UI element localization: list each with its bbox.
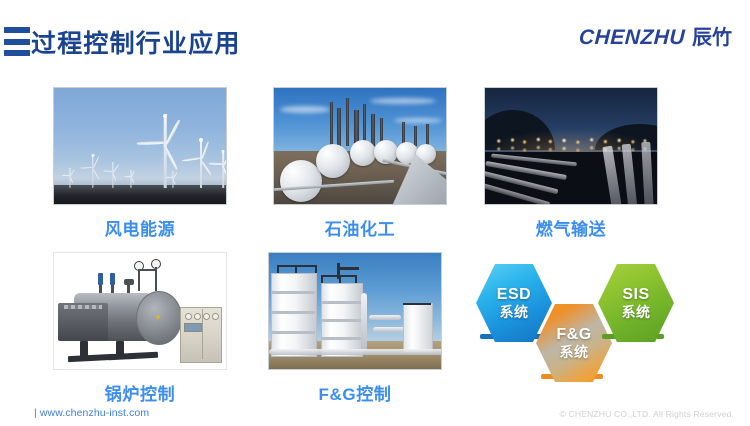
turbine-main: [142, 114, 188, 188]
industrial-boiler-photo: [53, 252, 227, 370]
cabinet-knob: [185, 313, 192, 320]
handrail-post: [355, 275, 357, 283]
night-gas-pipeline-photo: [484, 87, 658, 205]
turbine-hub: [222, 150, 225, 153]
storage-sphere: [350, 140, 376, 166]
caption-wind-power: 风电能源: [53, 215, 227, 240]
card-petrochemical[interactable]: 石油化工: [273, 87, 447, 205]
turbine-blade: [131, 170, 135, 177]
distillation-column: [346, 98, 349, 146]
turbine-blade: [201, 141, 209, 160]
hexagon-fg[interactable]: F&G 系统: [536, 304, 612, 382]
hexagon-esd[interactable]: ESD 系统: [476, 264, 552, 342]
logo-latin-text: CHENZHU: [578, 26, 685, 50]
page-header: 过程控制行业应用 CHENZHU 辰竹: [0, 0, 750, 68]
turbine-distant: [104, 162, 122, 188]
turbine-blade: [166, 176, 173, 177]
turbine-distant: [62, 168, 78, 188]
tower-band: [271, 311, 315, 314]
cabinet-knob: [194, 313, 201, 320]
turbine-blade: [70, 169, 75, 176]
gas-processing-towers-photo: [268, 252, 442, 370]
petrochemical-plant-photo: [273, 87, 447, 205]
fg-label-en: F&G: [556, 326, 591, 344]
valve-handle: [110, 273, 115, 285]
cabinet-knob: [203, 313, 210, 320]
turbine-distant: [82, 154, 104, 188]
turbine-distant: [166, 171, 180, 188]
cabinet-display: [184, 323, 202, 332]
tower-band: [271, 331, 315, 334]
footer-website-link[interactable]: | www.chenzhu-inst.com: [34, 407, 149, 419]
distillation-column: [414, 126, 417, 146]
handrail-post: [315, 265, 317, 273]
three-bars-icon: [4, 27, 30, 56]
caption-fg-control: F&G控制: [268, 380, 442, 405]
company-logo: CHENZHU 辰竹: [579, 21, 732, 50]
bar-2: [4, 39, 30, 45]
tower-band: [321, 301, 361, 304]
unit-rail: [403, 303, 431, 305]
logo-chinese-text: 辰竹: [692, 21, 732, 50]
turbine-hub: [92, 154, 95, 157]
handrail: [277, 265, 317, 267]
cap-latch: [156, 315, 160, 319]
turbine-blade: [124, 176, 131, 177]
hexagon-sis[interactable]: SIS 系统: [598, 264, 674, 342]
ground-pipeline: [269, 349, 442, 355]
turbine-blade: [209, 163, 223, 165]
process-pipe: [369, 315, 401, 320]
caption-gas-transport: 燃气输送: [484, 215, 658, 240]
fg-label-cn: 系统: [560, 345, 589, 361]
gauge-tube: [155, 267, 157, 291]
tower-band: [271, 291, 315, 294]
tower-boom: [337, 267, 359, 270]
caption-boiler-control: 锅炉控制: [53, 380, 227, 405]
handrail-post: [295, 265, 297, 273]
turbine-blade: [165, 119, 180, 145]
card-boiler-control[interactable]: 锅炉控制: [53, 252, 227, 370]
turbine-secondary: [211, 150, 227, 188]
footer-copyright: © CHENZHU CO.,LTD. All Rights Reserved.: [560, 409, 735, 419]
card-gas-transport[interactable]: 燃气输送: [484, 87, 658, 205]
gauge-tube: [138, 269, 156, 271]
esd-label-en: ESD: [497, 286, 531, 304]
safety-systems-diagram: ESD 系统 F&G 系统 SIS 系统: [468, 252, 698, 382]
turbine-blade: [93, 156, 100, 168]
turbine-hub: [199, 138, 203, 142]
sis-label-en: SIS: [622, 286, 649, 304]
handrail-post: [277, 265, 279, 273]
storage-tower: [271, 273, 317, 357]
turbine-blade: [113, 164, 120, 173]
bar-3: [4, 50, 30, 56]
valve-handle: [98, 273, 103, 285]
esd-label-cn: 系统: [500, 305, 529, 321]
caption-petrochemical: 石油化工: [273, 215, 447, 240]
processing-unit: [403, 303, 433, 353]
ground-band: [54, 185, 226, 204]
cloud: [370, 98, 436, 104]
storage-sphere: [280, 160, 322, 202]
distillation-column: [330, 102, 333, 146]
riser-pipe: [361, 293, 367, 351]
bar-1: [4, 27, 30, 33]
page-title: 过程控制行业应用: [31, 24, 241, 60]
turbine-blade: [80, 166, 93, 168]
wind-farm-photo: [53, 87, 227, 205]
turbine-blade: [137, 141, 165, 144]
handrail-post: [321, 275, 323, 283]
tower-band: [321, 337, 361, 340]
cabinet-divider: [202, 309, 203, 359]
distillation-column: [371, 114, 375, 146]
card-wind-power[interactable]: 风电能源: [53, 87, 227, 205]
card-fg-control[interactable]: F&G控制: [268, 252, 442, 370]
turbine-blade: [173, 172, 178, 179]
cloud: [280, 106, 330, 113]
storage-sphere: [316, 144, 350, 178]
panel-vents: [64, 305, 102, 309]
turbine-hub: [163, 114, 167, 118]
turbine-distant: [124, 170, 138, 188]
distillation-column: [426, 124, 429, 146]
sis-label-cn: 系统: [622, 305, 651, 321]
cabinet-knob: [212, 313, 219, 320]
tower-mast: [337, 263, 340, 279]
tower-band: [321, 319, 361, 322]
distillation-column: [337, 108, 341, 146]
gauge-tube: [138, 269, 140, 291]
